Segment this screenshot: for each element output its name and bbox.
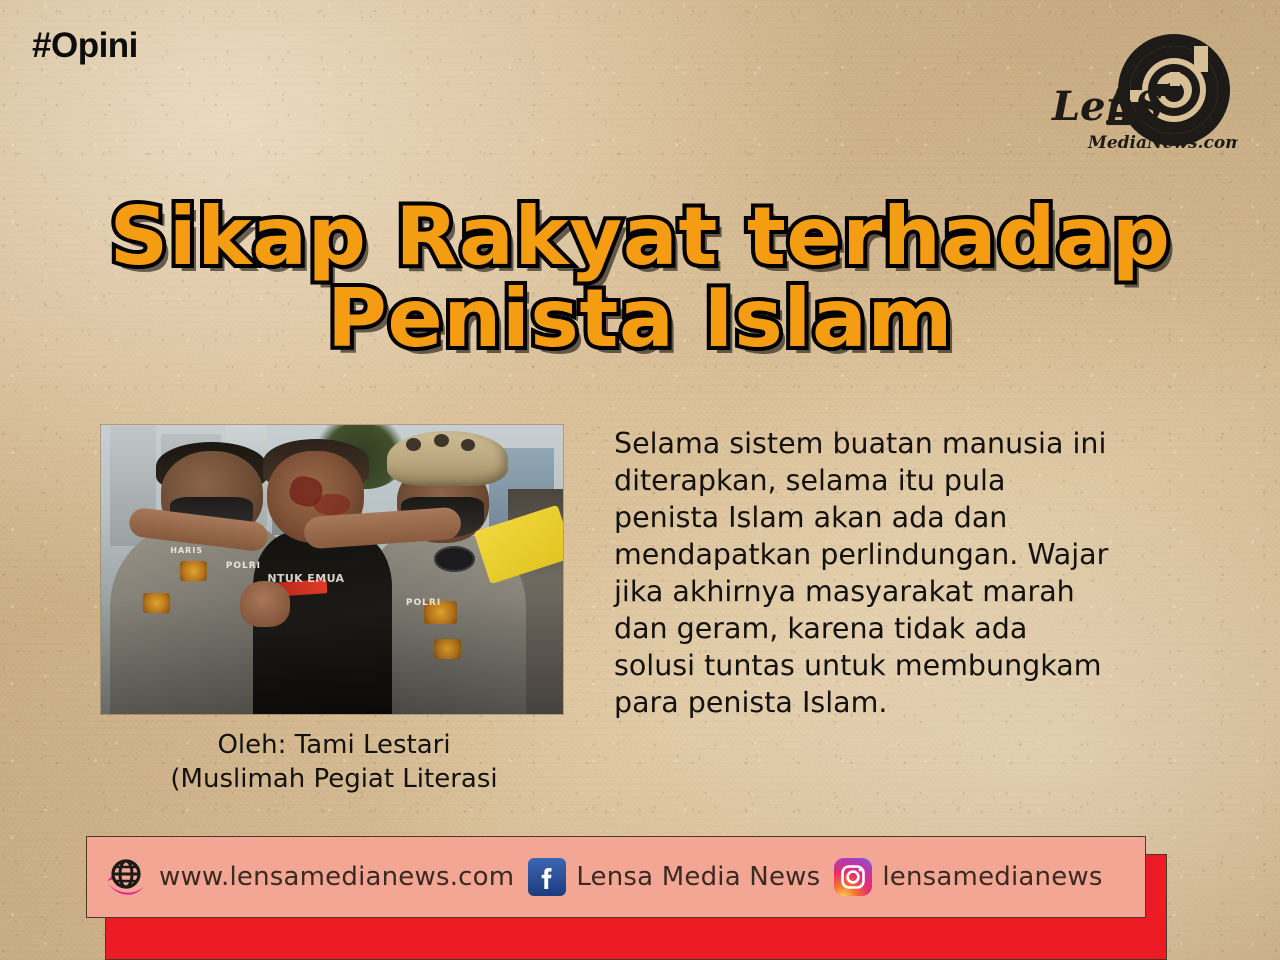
logo-wordmark: LenS (1051, 83, 1164, 130)
globe-icon (105, 857, 149, 897)
title-line-1: Sikap Rakyat terhadap (0, 196, 1280, 278)
footer-instagram[interactable]: lensamedianews (834, 858, 1102, 896)
footer-website-label: www.lensamedianews.com (159, 862, 514, 892)
photo-vignette (101, 425, 563, 714)
instagram-icon (834, 858, 872, 896)
byline: Oleh: Tami Lestari (Muslimah Pegiat Lite… (104, 728, 564, 797)
byline-author: Oleh: Tami Lestari (104, 728, 564, 762)
logo-subtext: MediaNews.com (1087, 133, 1238, 153)
facebook-icon (528, 858, 566, 896)
poster-title: Sikap Rakyat terhadap Penista Islam (0, 196, 1280, 361)
article-excerpt: Selama sistem buatan manusia ini diterap… (614, 425, 1110, 721)
hashtag-label: #Opini (32, 26, 138, 66)
footer-facebook[interactable]: Lensa Media News (528, 858, 820, 896)
footer-contact-panel: www.lensamedianews.com Lensa Media News (86, 836, 1146, 918)
byline-affiliation: (Muslimah Pegiat Literasi (104, 762, 564, 796)
footer-bar: www.lensamedianews.com Lensa Media News (86, 836, 1146, 940)
news-photo: NTUK EMUA HARIS POLRI POLRI (101, 425, 563, 714)
footer-facebook-label: Lensa Media News (576, 862, 820, 892)
lensa-media-news-logo: LenS MediaNews.com (1038, 28, 1238, 170)
title-line-2: Penista Islam (0, 278, 1280, 360)
opinion-poster: #Opini LenS MediaNews. (0, 0, 1280, 960)
footer-website[interactable]: www.lensamedianews.com (105, 857, 514, 897)
footer-instagram-label: lensamedianews (882, 862, 1102, 892)
